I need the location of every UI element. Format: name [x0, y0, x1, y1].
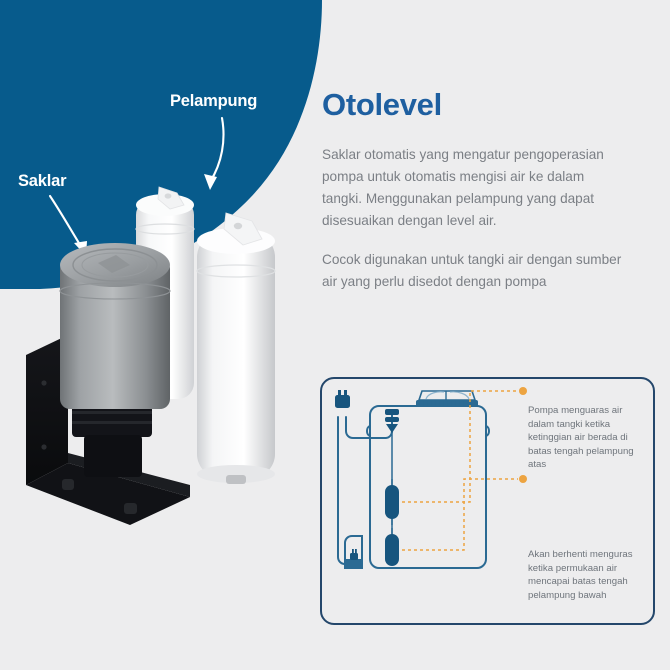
leader-lower: [402, 479, 518, 550]
description-paragraph-1: Saklar otomatis yang mengatur pengoperas…: [322, 144, 622, 232]
text-column: Otolevel Saklar otomatis yang mengatur p…: [322, 88, 652, 310]
leader-lines: [402, 391, 518, 550]
submersible-pump: [345, 536, 362, 568]
infographic-page: Pelampung Saklar: [0, 0, 670, 670]
description-paragraph-2: Cocok digunakan untuk tangki air dengan …: [322, 249, 622, 293]
switch-body: [60, 243, 170, 409]
pelampung-arrow-icon: [204, 118, 224, 190]
power-plug-icon: [335, 390, 350, 408]
annotation-lower-float: Akan berhenti menguras ketika permukaan …: [528, 548, 650, 602]
float-cylinder-front: [197, 213, 275, 484]
leader-dot-upper: [519, 387, 527, 395]
product-photo: [12, 185, 312, 525]
upper-float-switch: [385, 479, 399, 525]
annotation-upper-float: Pompa menguaras air dalam tangki ketika …: [528, 404, 650, 472]
tank-inlet-fitting: [385, 409, 399, 433]
label-pelampung: Pelampung: [170, 92, 257, 111]
leader-dot-lower: [519, 475, 527, 483]
tank-cap-icon: [416, 391, 478, 407]
page-title: Otolevel: [322, 88, 652, 122]
leader-upper: [402, 391, 518, 502]
lower-float-switch: [385, 528, 399, 566]
